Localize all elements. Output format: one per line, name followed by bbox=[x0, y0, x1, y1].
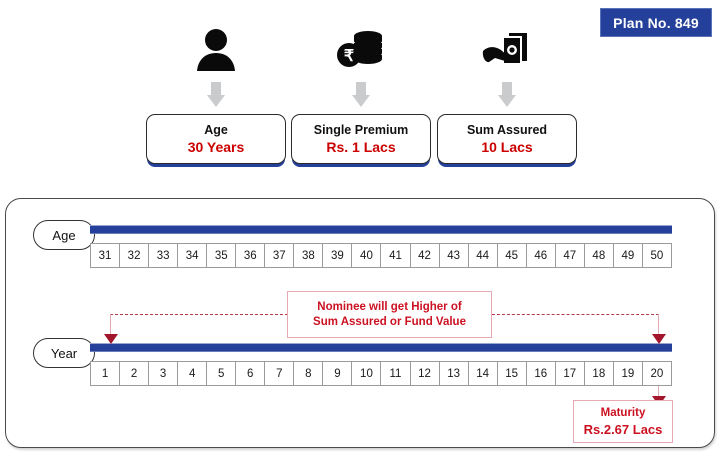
age-cell: 35 bbox=[207, 243, 236, 268]
row-label-age: Age bbox=[33, 220, 95, 250]
age-cell: 39 bbox=[323, 243, 352, 268]
svg-text:₹: ₹ bbox=[344, 48, 354, 65]
year-cell: 13 bbox=[440, 361, 469, 386]
input-column-single-premium: ₹ Single Premium Rs. 1 Lacs bbox=[288, 24, 434, 164]
year-cell: 2 bbox=[120, 361, 149, 386]
nominee-callout-line1: Nominee will get Higher of bbox=[317, 300, 461, 315]
year-cell: 11 bbox=[381, 361, 410, 386]
year-cell: 15 bbox=[498, 361, 527, 386]
year-cell-row: 1234567891011121314151617181920 bbox=[90, 361, 672, 386]
person-icon bbox=[194, 24, 238, 76]
year-cell: 1 bbox=[91, 361, 120, 386]
row-label-year: Year bbox=[33, 338, 95, 368]
age-cell: 38 bbox=[294, 243, 323, 268]
input-card-age: Age 30 Years bbox=[146, 114, 286, 164]
year-cell: 17 bbox=[556, 361, 585, 386]
maturity-callout-value: Rs.2.67 Lacs bbox=[584, 421, 663, 438]
age-cell: 49 bbox=[614, 243, 643, 268]
nominee-callout: Nominee will get Higher of Sum Assured o… bbox=[287, 291, 492, 338]
year-cell: 9 bbox=[323, 361, 352, 386]
input-card-title: Single Premium bbox=[314, 122, 408, 138]
year-cell: 5 bbox=[207, 361, 236, 386]
input-card-value: Rs. 1 Lacs bbox=[326, 138, 395, 157]
year-cell: 7 bbox=[265, 361, 294, 386]
year-cell: 16 bbox=[527, 361, 556, 386]
input-card-single-premium: Single Premium Rs. 1 Lacs bbox=[291, 114, 431, 164]
age-cell: 45 bbox=[498, 243, 527, 268]
year-axis-bar bbox=[90, 343, 672, 352]
maturity-callout-title: Maturity bbox=[601, 406, 646, 421]
age-cell: 46 bbox=[527, 243, 556, 268]
year-cell: 12 bbox=[411, 361, 440, 386]
nominee-arrowhead-right-icon bbox=[652, 334, 666, 344]
age-cell: 47 bbox=[556, 243, 585, 268]
down-arrow-icon bbox=[207, 82, 225, 108]
age-cell: 33 bbox=[149, 243, 178, 268]
nominee-connector-left bbox=[110, 314, 288, 315]
input-column-age: Age 30 Years bbox=[143, 24, 289, 164]
age-cell: 48 bbox=[585, 243, 614, 268]
age-cell: 31 bbox=[91, 243, 120, 268]
age-cell: 36 bbox=[236, 243, 265, 268]
age-cell: 37 bbox=[265, 243, 294, 268]
year-cell: 4 bbox=[178, 361, 207, 386]
age-axis-bar bbox=[90, 225, 672, 234]
age-cell: 34 bbox=[178, 243, 207, 268]
year-cell: 19 bbox=[614, 361, 643, 386]
maturity-callout: Maturity Rs.2.67 Lacs bbox=[573, 400, 673, 443]
nominee-arrowhead-left-icon bbox=[104, 334, 118, 344]
year-cell: 6 bbox=[236, 361, 265, 386]
year-cell: 3 bbox=[149, 361, 178, 386]
hand-cash-icon bbox=[479, 24, 535, 76]
year-cell: 10 bbox=[352, 361, 381, 386]
input-card-value: 30 Years bbox=[188, 138, 245, 157]
year-cell: 20 bbox=[643, 361, 672, 386]
input-card-title: Sum Assured bbox=[467, 122, 547, 138]
year-cell: 14 bbox=[469, 361, 498, 386]
age-cell: 50 bbox=[643, 243, 672, 268]
nominee-connector-right bbox=[492, 314, 659, 315]
age-cell: 41 bbox=[381, 243, 410, 268]
age-cell: 43 bbox=[440, 243, 469, 268]
age-cell: 42 bbox=[411, 243, 440, 268]
year-cell: 8 bbox=[294, 361, 323, 386]
age-cell: 32 bbox=[120, 243, 149, 268]
input-card-value: 10 Lacs bbox=[481, 138, 532, 157]
input-card-sum-assured: Sum Assured 10 Lacs bbox=[437, 114, 577, 164]
down-arrow-icon bbox=[498, 82, 516, 108]
age-cell-row: 3132333435363738394041424344454647484950 bbox=[90, 243, 672, 268]
plan-number-badge: Plan No. 849 bbox=[600, 8, 712, 37]
age-cell: 44 bbox=[469, 243, 498, 268]
coins-rupee-icon: ₹ bbox=[335, 24, 387, 76]
input-card-title: Age bbox=[204, 122, 228, 138]
down-arrow-icon bbox=[352, 82, 370, 108]
nominee-callout-line2: Sum Assured or Fund Value bbox=[313, 315, 466, 330]
year-cell: 18 bbox=[585, 361, 614, 386]
input-column-sum-assured: Sum Assured 10 Lacs bbox=[434, 24, 580, 164]
age-cell: 40 bbox=[352, 243, 381, 268]
